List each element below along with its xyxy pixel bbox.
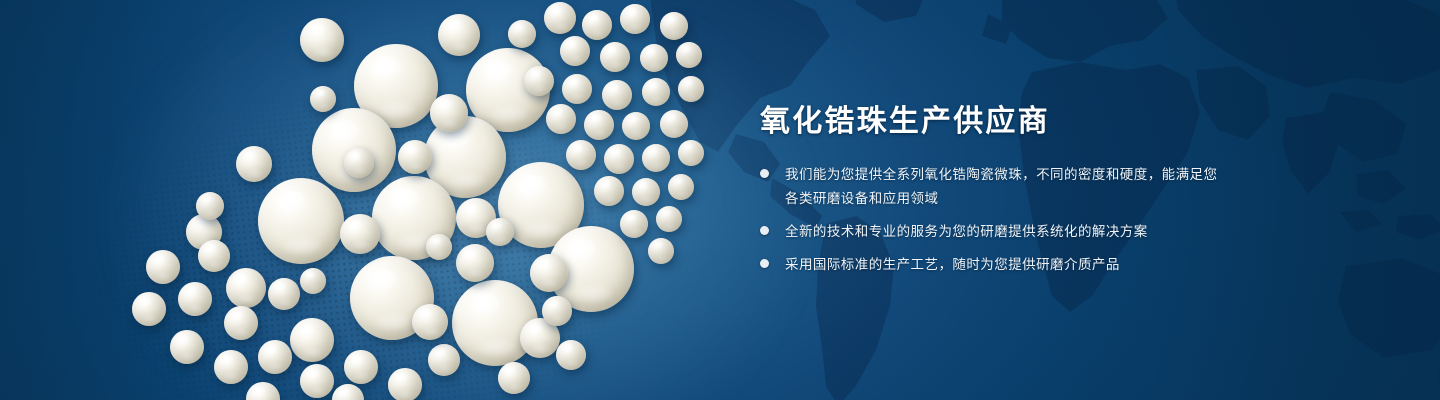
bead-small bbox=[524, 66, 554, 96]
bead-medium bbox=[456, 244, 494, 282]
bead-small bbox=[594, 176, 624, 206]
list-item: 全新的技术和专业的服务为您的研磨提供系统化的解决方案 bbox=[760, 220, 1230, 243]
bead-small bbox=[556, 340, 586, 370]
bead-small bbox=[508, 20, 536, 48]
bead-medium bbox=[530, 254, 568, 292]
bead-small bbox=[246, 382, 280, 400]
page-title: 氧化锆珠生产供应商 bbox=[760, 104, 1230, 139]
bead-small bbox=[582, 10, 612, 40]
bullet-dot-icon bbox=[760, 226, 769, 235]
bead-small bbox=[546, 104, 576, 134]
bead-small bbox=[196, 192, 224, 220]
bead-medium bbox=[340, 214, 380, 254]
bead-small bbox=[388, 368, 422, 400]
bead-small bbox=[560, 36, 590, 66]
hero-banner: 氧化锆珠生产供应商 我们能为您提供全系列氧化锆陶瓷微珠，不同的密度和硬度，能满足… bbox=[0, 0, 1440, 400]
bead-small bbox=[620, 210, 648, 238]
bead-small bbox=[224, 306, 258, 340]
bead-small bbox=[660, 110, 688, 138]
bead-small bbox=[642, 144, 670, 172]
bead-small bbox=[632, 178, 660, 206]
bead-small bbox=[486, 218, 514, 246]
bead-medium bbox=[344, 148, 374, 178]
bead-medium bbox=[226, 268, 266, 308]
bead-small bbox=[178, 282, 212, 316]
bead-medium bbox=[236, 146, 272, 182]
bead-small bbox=[676, 42, 702, 68]
feature-list: 我们能为您提供全系列氧化锆陶瓷微珠，不同的密度和硬度，能满足您各类研磨设备和应用… bbox=[760, 163, 1230, 276]
bead-small bbox=[146, 250, 180, 284]
bead-small bbox=[428, 344, 460, 376]
bead-large bbox=[258, 178, 344, 264]
bead-small bbox=[132, 292, 166, 326]
bead-small bbox=[498, 362, 530, 394]
bead-small bbox=[678, 76, 704, 102]
bead-small bbox=[300, 364, 334, 398]
bead-small bbox=[660, 12, 688, 40]
bead-medium bbox=[290, 318, 334, 362]
bead-small bbox=[300, 268, 326, 294]
bead-small bbox=[566, 140, 596, 170]
bead-small bbox=[214, 350, 248, 384]
zirconia-beads-photo bbox=[0, 0, 760, 400]
bead-small bbox=[656, 206, 682, 232]
bead-small bbox=[412, 304, 448, 340]
bead-medium bbox=[300, 18, 344, 62]
bead-small bbox=[584, 110, 614, 140]
bead-small bbox=[620, 4, 650, 34]
bead-small bbox=[562, 74, 592, 104]
bead-small bbox=[600, 42, 630, 72]
bead-small bbox=[542, 296, 572, 326]
list-item-text: 采用国际标准的生产工艺，随时为您提供研磨介质产品 bbox=[785, 253, 1120, 276]
bead-small bbox=[170, 330, 204, 364]
bead-small bbox=[604, 144, 634, 174]
bead-small bbox=[198, 240, 230, 272]
bead-medium bbox=[398, 140, 432, 174]
list-item-text: 我们能为您提供全系列氧化锆陶瓷微珠，不同的密度和硬度，能满足您各类研磨设备和应用… bbox=[785, 163, 1230, 209]
bullet-dot-icon bbox=[760, 169, 769, 178]
bead-small bbox=[642, 78, 670, 106]
bead-medium bbox=[430, 94, 468, 132]
bead-small bbox=[332, 384, 364, 400]
bead-small bbox=[648, 238, 674, 264]
bullet-dot-icon bbox=[760, 259, 769, 268]
bead-small bbox=[640, 44, 668, 72]
list-item-text: 全新的技术和专业的服务为您的研磨提供系统化的解决方案 bbox=[785, 220, 1148, 243]
bead-small bbox=[622, 112, 650, 140]
bead-small bbox=[678, 140, 704, 166]
bead-small bbox=[344, 350, 378, 384]
bead-small bbox=[602, 80, 632, 110]
bead-medium bbox=[438, 14, 480, 56]
bead-small bbox=[426, 234, 452, 260]
banner-copy: 氧化锆珠生产供应商 我们能为您提供全系列氧化锆陶瓷微珠，不同的密度和硬度，能满足… bbox=[760, 104, 1230, 276]
bead-small bbox=[268, 278, 300, 310]
list-item: 我们能为您提供全系列氧化锆陶瓷微珠，不同的密度和硬度，能满足您各类研磨设备和应用… bbox=[760, 163, 1230, 209]
list-item: 采用国际标准的生产工艺，随时为您提供研磨介质产品 bbox=[760, 253, 1230, 276]
bead-small bbox=[668, 174, 694, 200]
bead-small bbox=[310, 86, 336, 112]
bead-small bbox=[258, 340, 292, 374]
bead-small bbox=[544, 2, 576, 34]
